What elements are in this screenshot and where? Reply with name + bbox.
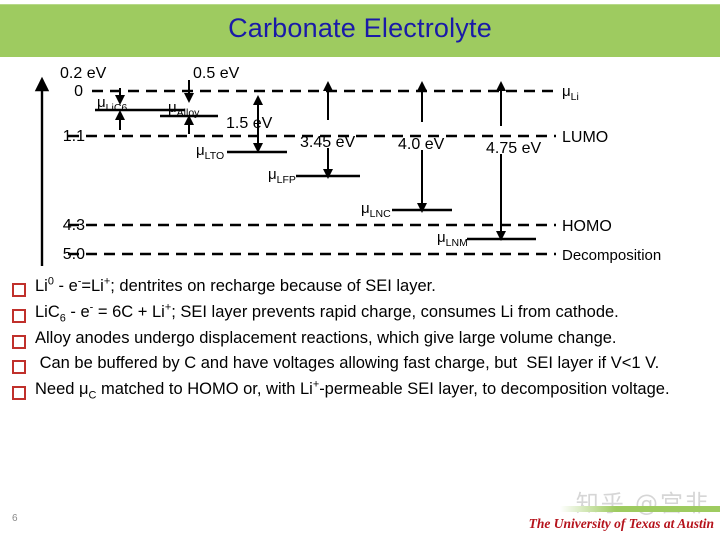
- right-label-homo: HOMO: [562, 218, 612, 235]
- axis-value-0: 0: [74, 83, 83, 100]
- annotation-4p75-ev: 4.75 eV: [486, 140, 541, 157]
- right-label-decomposition: Decomposition: [562, 247, 661, 264]
- annotation-0p2-ev: 0.2 eV: [60, 65, 107, 82]
- bullet-square-icon: [12, 283, 26, 297]
- list-item: Alloy anodes undergo displacement reacti…: [6, 328, 718, 350]
- list-item: Need μC matched to HOMO or, with Li+-per…: [6, 379, 718, 401]
- page-number: 6: [12, 513, 18, 524]
- bullet-list: Li0 - e-=Li+; dentrites on recharge beca…: [6, 276, 718, 405]
- title-banner: Carbonate Electrolyte: [0, 4, 720, 57]
- level-mu-lfp: μLFP 3.45 eV: [268, 86, 360, 186]
- footer-institution: The University of Texas at Austin: [529, 516, 714, 532]
- bullet-text-li-metal: Li0 - e-=Li+; dentrites on recharge beca…: [35, 276, 718, 298]
- annotation-1p5-ev: 1.5 eV: [226, 115, 273, 132]
- page-title: Carbonate Electrolyte: [0, 13, 720, 44]
- level-label-mu-lfp: μLFP: [268, 166, 296, 186]
- level-mu-lto: μLTO 1.5 eV: [196, 100, 287, 162]
- annotation-0p5-ev: 0.5 eV: [193, 65, 240, 82]
- bullet-text-muc: Need μC matched to HOMO or, with Li+-per…: [35, 379, 718, 401]
- bullet-square-icon: [12, 360, 26, 374]
- energy-level-diagram: 0 1.1 4.3 5.0 μLiC6 0.2 eV μAlloy 0.5 eV: [0, 58, 720, 276]
- list-item: Li0 - e-=Li+; dentrites on recharge beca…: [6, 276, 718, 298]
- bullet-square-icon: [12, 309, 26, 323]
- list-item: LiC6 - e- = 6C + Li+; SEI layer prevents…: [6, 302, 718, 324]
- level-label-mu-lnm: μLNM: [437, 229, 468, 249]
- slide: Carbonate Electrolyte: [0, 0, 720, 540]
- axis-value-1p1: 1.1: [63, 128, 85, 145]
- right-label-mu-li: μLi: [562, 83, 579, 103]
- bullet-square-icon: [12, 335, 26, 349]
- right-label-lumo: LUMO: [562, 129, 608, 146]
- bullet-text-alloy: Alloy anodes undergo displacement reacti…: [35, 328, 718, 350]
- bullet-square-icon: [12, 386, 26, 400]
- level-mu-lnc: μLNC 4.0 eV: [361, 86, 452, 220]
- annotation-3p45-ev: 3.45 eV: [300, 134, 355, 151]
- watermark: 知乎 @宫非: [576, 484, 710, 518]
- bullet-text-buffer: Can be buffered by C and have voltages a…: [35, 353, 718, 375]
- axis-value-5p0: 5.0: [63, 246, 85, 263]
- level-label-mu-lnc: μLNC: [361, 200, 391, 220]
- list-item: Can be buffered by C and have voltages a…: [6, 353, 718, 375]
- axis-value-4p3: 4.3: [63, 217, 85, 234]
- annotation-4p0-ev: 4.0 eV: [398, 136, 445, 153]
- level-label-mu-lto: μLTO: [196, 142, 224, 162]
- footer-accent-bar: [560, 506, 720, 512]
- bullet-text-lic6: LiC6 - e- = 6C + Li+; SEI layer prevents…: [35, 302, 718, 324]
